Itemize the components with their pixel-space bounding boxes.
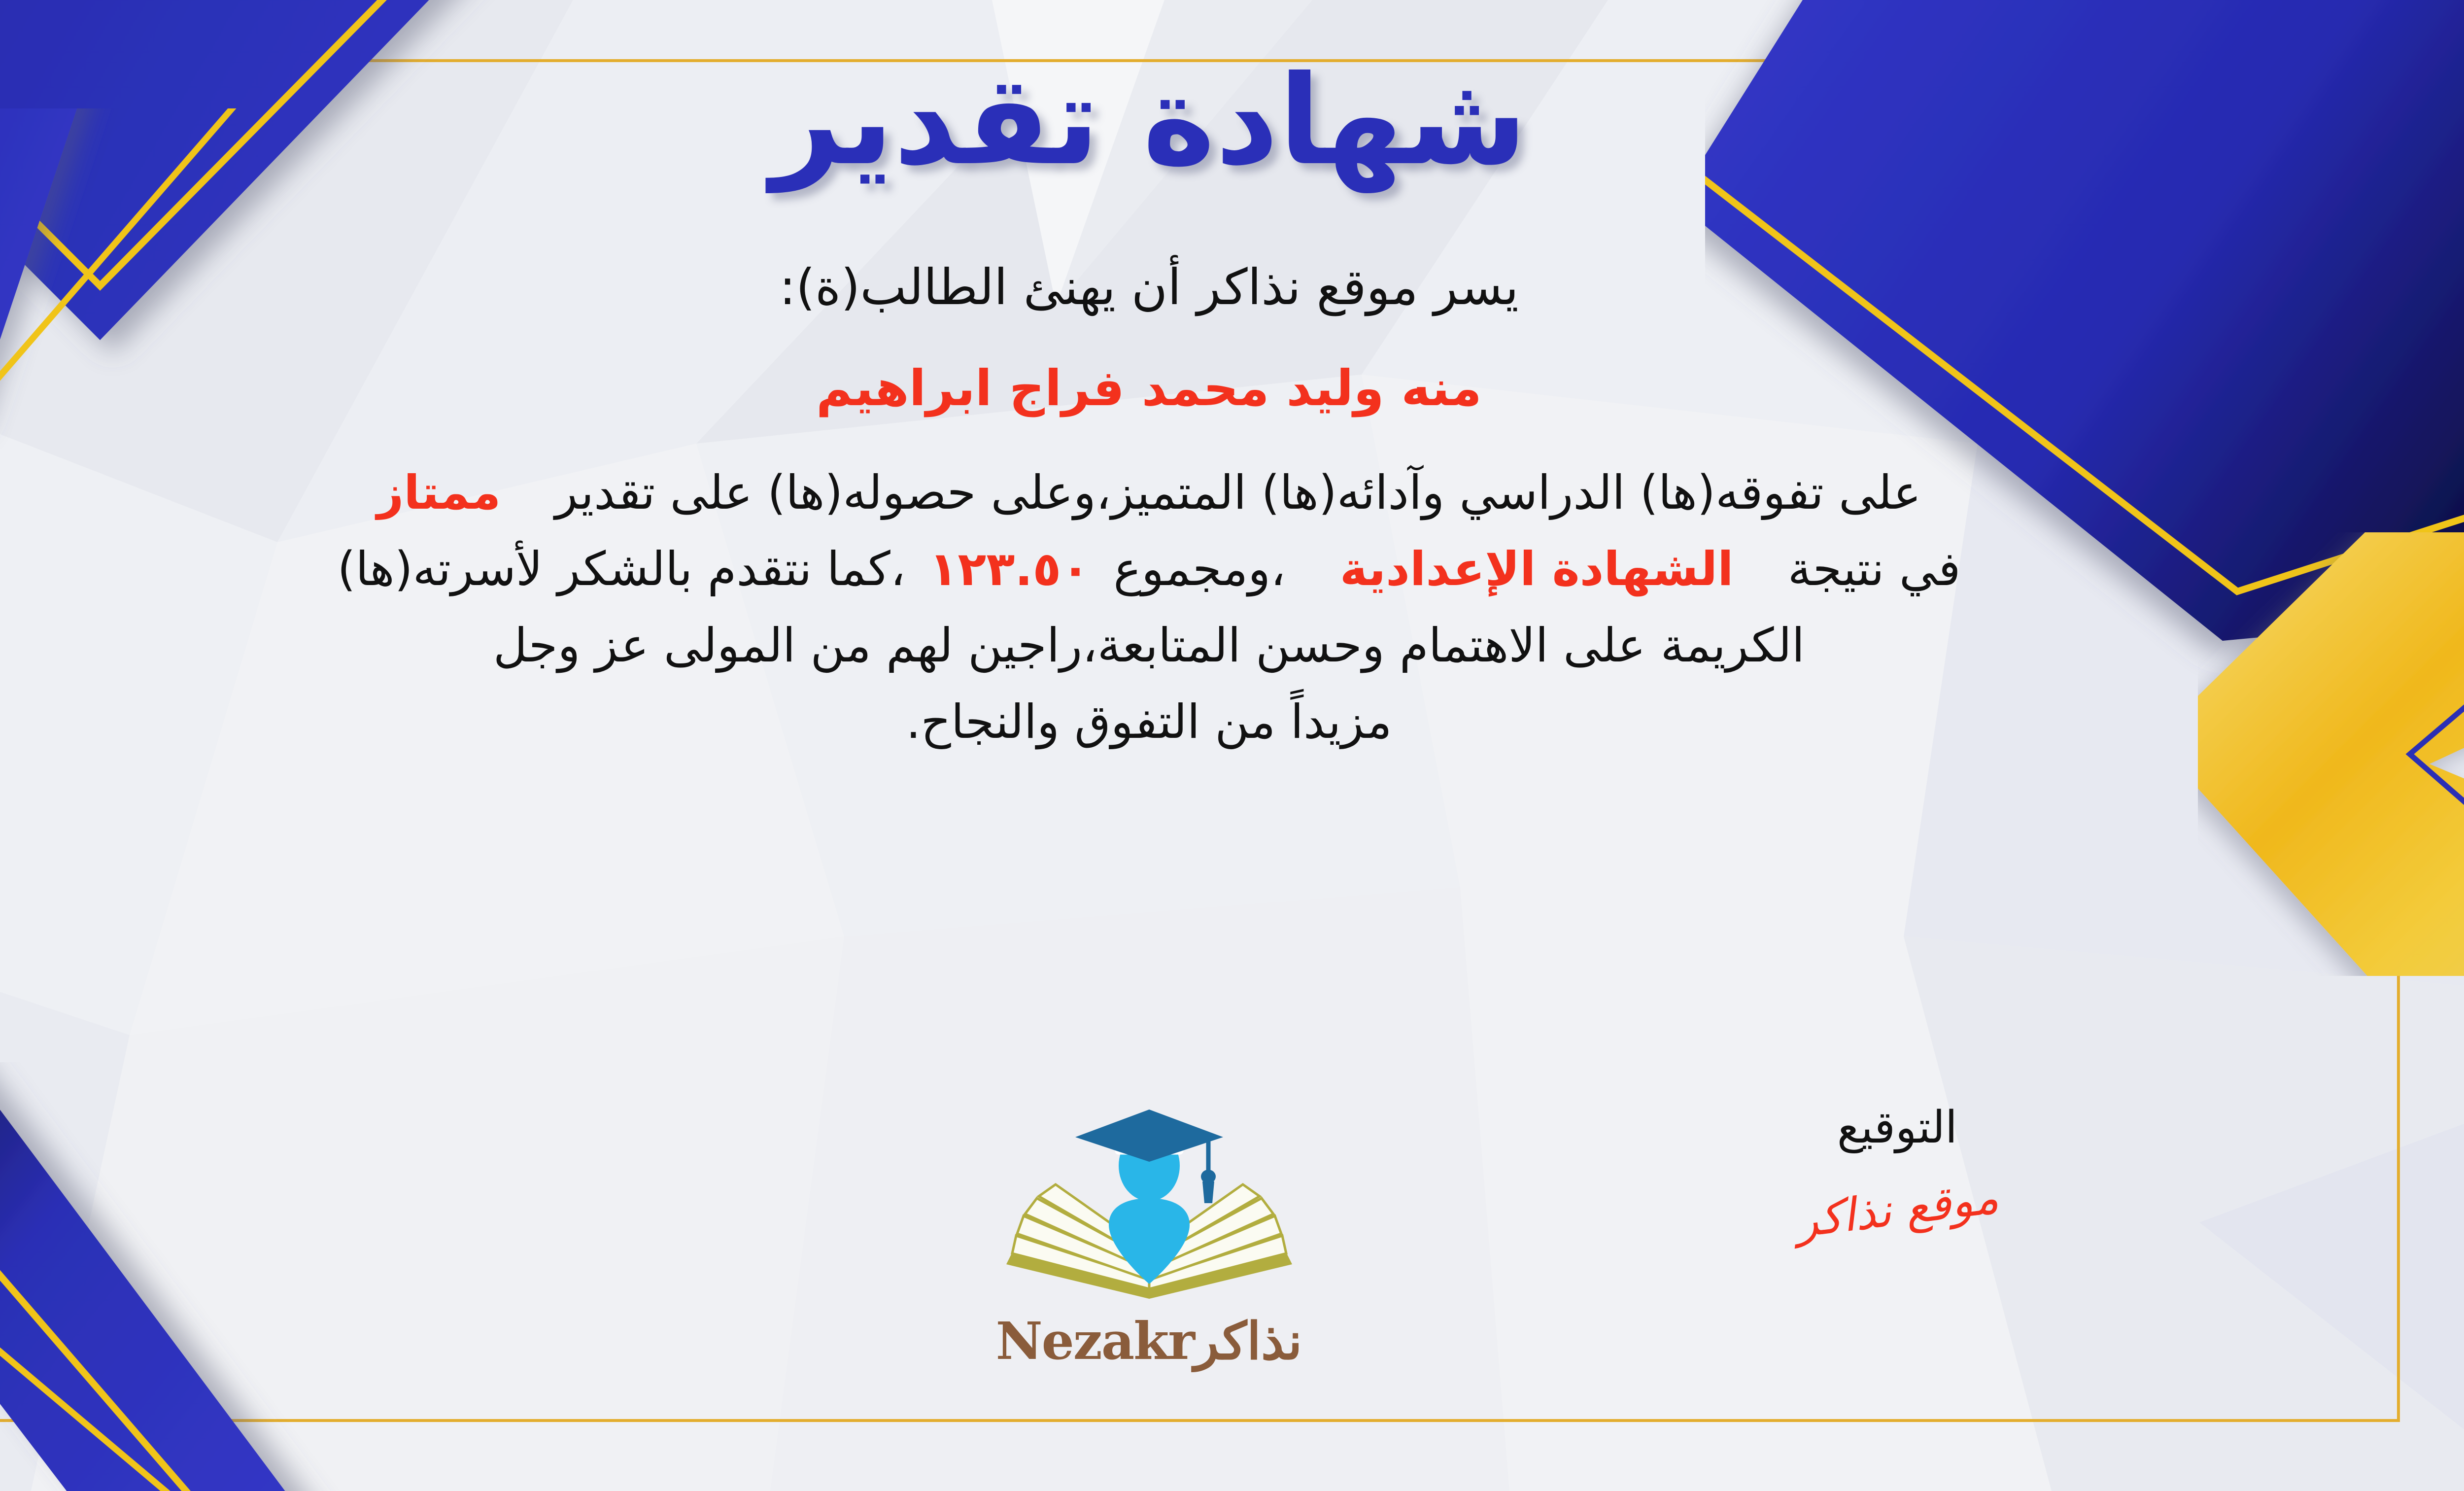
achievement-row-1: على تفوقه(ها) الدراسي وآدائه(ها) المتميز… bbox=[144, 455, 2155, 531]
thanks-text: ،كما نتقدم بالشكر لأسرته(ها) bbox=[337, 542, 905, 596]
greeting-line: يسر موقع نذاكر أن يهنئ الطالب(ة): bbox=[144, 249, 2155, 325]
signature-label: التوقيع bbox=[1710, 1102, 2085, 1153]
certificate-body: يسر موقع نذاكر أن يهنئ الطالب(ة): منه ول… bbox=[144, 249, 2155, 760]
exam-name-value: الشهادة الإعدادية bbox=[1340, 542, 1734, 596]
tassel bbox=[1202, 1181, 1214, 1203]
achievement-row-2: في نتيجةالشهادة الإعدادية،ومجموع١٢٣.٥٠،ك… bbox=[144, 531, 2155, 608]
cap-top bbox=[1075, 1110, 1223, 1162]
brand-logo: نذاكرNezakr bbox=[962, 1107, 1336, 1371]
total-prefix-text: ،ومجموع bbox=[1113, 542, 1285, 596]
student-name: منه وليد محمد فراج ابراهيم bbox=[144, 350, 2155, 426]
certificate-canvas: شهادة تقدير يسر موقع نذاكر أن يهنئ الطال… bbox=[0, 0, 2464, 1491]
certificate-footer: التوقيع موقع نذاكر bbox=[0, 1102, 2390, 1407]
grade-value: ممتاز bbox=[377, 466, 501, 520]
graduation-book-icon bbox=[977, 1107, 1322, 1314]
signature-block: التوقيع موقع نذاكر bbox=[1710, 1102, 2085, 1236]
logo-mark bbox=[977, 1107, 1322, 1314]
achievement-row-4: مزيداً من التفوق والنجاح. bbox=[144, 684, 2155, 761]
achievement-text-1: على تفوقه(ها) الدراسي وآدائه(ها) المتميز… bbox=[555, 466, 1921, 520]
achievement-row-3: الكريمة على الاهتمام وحسن المتابعة،راجين… bbox=[144, 608, 2155, 684]
signature-handwritten: موقع نذاكر bbox=[1793, 1171, 2002, 1248]
logo-name-ar: نذاكر bbox=[1194, 1311, 1302, 1371]
page-title: شهادة تقدير bbox=[771, 59, 1527, 182]
logo-wordmark: نذاكرNezakr bbox=[962, 1311, 1336, 1371]
exam-prefix-text: في نتيجة bbox=[1788, 542, 1961, 596]
title-container: شهادة تقدير bbox=[771, 47, 1527, 195]
achievement-paragraph: على تفوقه(ها) الدراسي وآدائه(ها) المتميز… bbox=[144, 455, 2155, 760]
logo-name-en: Nezakr bbox=[996, 1311, 1195, 1371]
total-score-value: ١٢٣.٥٠ bbox=[929, 542, 1090, 596]
